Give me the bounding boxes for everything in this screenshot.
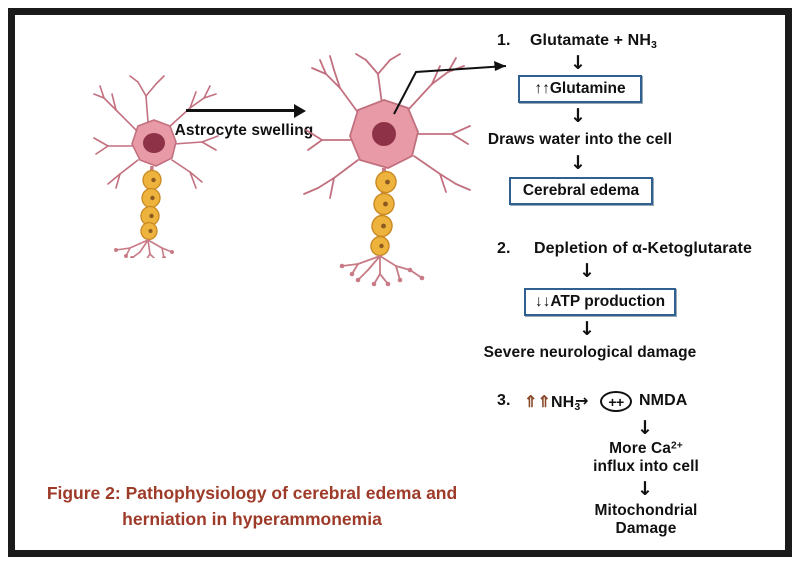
pathway-1-number: 1.: [497, 32, 511, 50]
arrow-3b: ↓: [637, 480, 653, 499]
nmda-label: NMDA: [639, 392, 687, 410]
nmda-receptor-charge: ++: [600, 391, 632, 412]
pointer-leader-line: [388, 58, 518, 118]
figure-caption: Figure 2: Pathophysiology of cerebral ed…: [22, 480, 482, 532]
pathway-2-title: Depletion of α-Ketoglutarate: [534, 240, 752, 258]
arrow-2b: ↓: [579, 320, 595, 339]
pathway-1-title-text: Glutamate + NH: [530, 32, 651, 49]
ca-charge-sup: 2+: [671, 440, 683, 451]
pathway-2-number: 2.: [497, 240, 511, 258]
arrow-1a: ↓: [570, 54, 586, 73]
pathway-1-title: Glutamate + NH3: [530, 32, 657, 51]
nh3-text: NH: [551, 394, 574, 411]
label-severe-neuro-damage: Severe neurological damage: [484, 344, 697, 362]
arrow-3a: ↓: [637, 419, 653, 438]
astrocyte-swelling-label: Astrocyte swelling: [175, 122, 314, 140]
figure-container: Astrocyte swelling: [0, 0, 800, 565]
label-mitochondrial-line2: Damage: [616, 520, 677, 538]
box-atp-production: ↓↓ATP production: [524, 288, 676, 316]
astrocyte-normal: [86, 68, 236, 258]
arrow-1b: ↓: [570, 107, 586, 126]
arrow-right-nmda: →: [575, 391, 589, 410]
figure-caption-line-1: Figure 2: Pathophysiology of cerebral ed…: [22, 480, 482, 506]
pathway-3-title: ⇑⇑NH3: [524, 392, 580, 413]
box-glutamine: ↑↑Glutamine: [518, 75, 642, 103]
figure-caption-line-2: herniation in hyperammonemia: [22, 506, 482, 532]
pathway-1-title-sub: 3: [651, 39, 657, 51]
box-cerebral-edema: Cerebral edema: [509, 177, 653, 205]
more-ca-text: More Ca: [609, 440, 671, 457]
label-more-ca-line1: More Ca2+: [609, 440, 683, 458]
astrocyte-swelling-arrow-line: [186, 109, 296, 112]
nh3-up-arrows: ⇑⇑: [524, 394, 551, 411]
label-mitochondrial-line1: Mitochondrial: [595, 502, 698, 520]
arrow-1c: ↓: [570, 154, 586, 173]
arrow-2a: ↓: [579, 262, 595, 281]
label-more-ca-line2: influx into cell: [593, 458, 699, 476]
pathway-3-number: 3.: [497, 392, 511, 410]
label-draws-water: Draws water into the cell: [488, 131, 672, 149]
